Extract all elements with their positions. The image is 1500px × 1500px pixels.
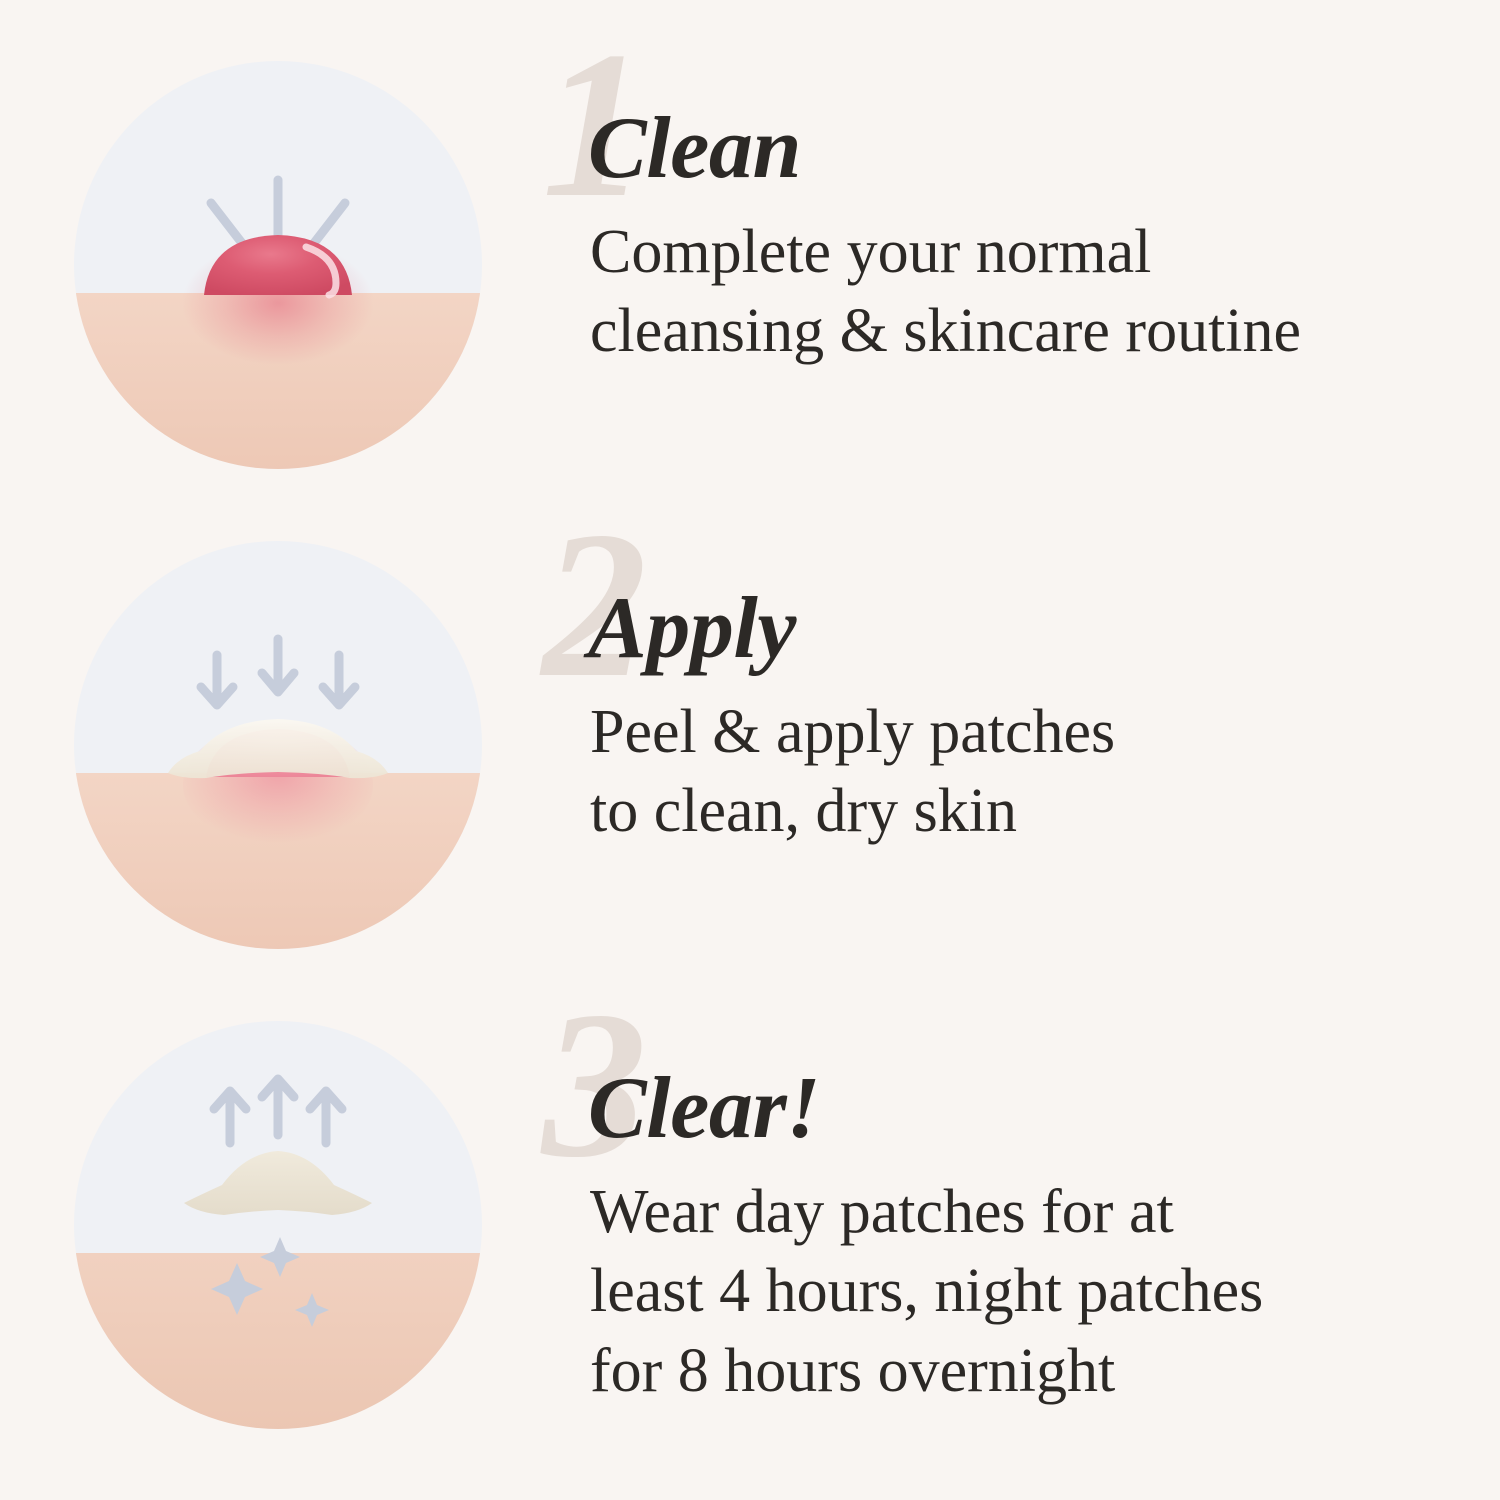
step-1-body-line-2: cleansing & skincare routine — [590, 292, 1500, 371]
step-1-body-line-1: Complete your normal — [590, 213, 1500, 292]
step-3-body-line-2: least 4 hours, night patches — [590, 1252, 1500, 1331]
step-2-heading: Apply — [520, 525, 1500, 673]
step-3-text: 3 Clear! Wear day patches for at least 4… — [520, 995, 1500, 1411]
step-2-body: Peel & apply patches to clean, dry skin — [520, 673, 1500, 852]
step-3-heading: Clear! — [520, 1005, 1500, 1153]
patch-absorbed-illustration — [74, 1015, 482, 1435]
step-3-body-line-1: Wear day patches for at — [590, 1173, 1500, 1252]
step-2-body-line-2: to clean, dry skin — [590, 772, 1500, 851]
step-2-body-line-1: Peel & apply patches — [590, 693, 1500, 772]
step-1-illustration-wrap — [0, 35, 520, 495]
up-arrows-icon — [214, 1079, 342, 1143]
patch-applied-illustration — [74, 535, 482, 955]
step-1-body: Complete your normal cleansing & skincar… — [520, 193, 1500, 372]
how-to-use-panel: 1 Clean Complete your normal cleansing &… — [0, 0, 1500, 1500]
blemish-on-skin-illustration — [74, 55, 482, 475]
step-2-text: 2 Apply Peel & apply patches to clean, d… — [520, 515, 1500, 852]
step-3-illustration-wrap — [0, 995, 520, 1455]
step-1: 1 Clean Complete your normal cleansing &… — [0, 35, 1500, 515]
skin-surface — [74, 1253, 482, 1435]
step-3-body-line-3: for 8 hours overnight — [590, 1332, 1500, 1411]
step-3-body: Wear day patches for at least 4 hours, n… — [520, 1153, 1500, 1411]
step-1-heading: Clean — [520, 45, 1500, 193]
step-3: 3 Clear! Wear day patches for at least 4… — [0, 995, 1500, 1475]
step-2-illustration-wrap — [0, 515, 520, 975]
step-1-text: 1 Clean Complete your normal cleansing &… — [520, 35, 1500, 372]
step-2: 2 Apply Peel & apply patches to clean, d… — [0, 515, 1500, 995]
